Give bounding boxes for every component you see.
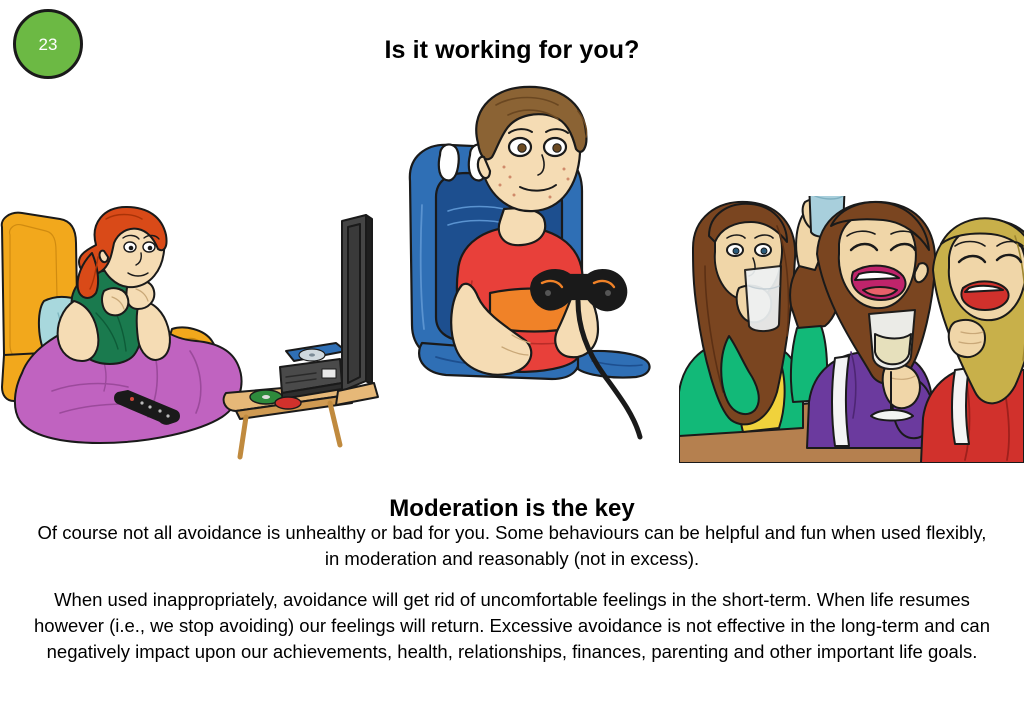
paragraph-2: When used inappropriately, avoidance wil… xyxy=(32,587,992,666)
slide: 23 Is it working for you? xyxy=(0,0,1024,723)
illustration-woman-watching-tv xyxy=(0,205,380,465)
illustration-teen-gamer xyxy=(392,85,692,470)
television-shape xyxy=(336,215,378,405)
body-copy: Of course not all avoidance is unhealthy… xyxy=(32,520,992,665)
illustration-band xyxy=(0,85,1024,470)
illustration-friends-drinking xyxy=(679,196,1024,463)
page-title: Is it working for you? xyxy=(0,36,1024,65)
section-subtitle: Moderation is the key xyxy=(0,495,1024,523)
paragraph-1: Of course not all avoidance is unhealthy… xyxy=(32,520,992,573)
